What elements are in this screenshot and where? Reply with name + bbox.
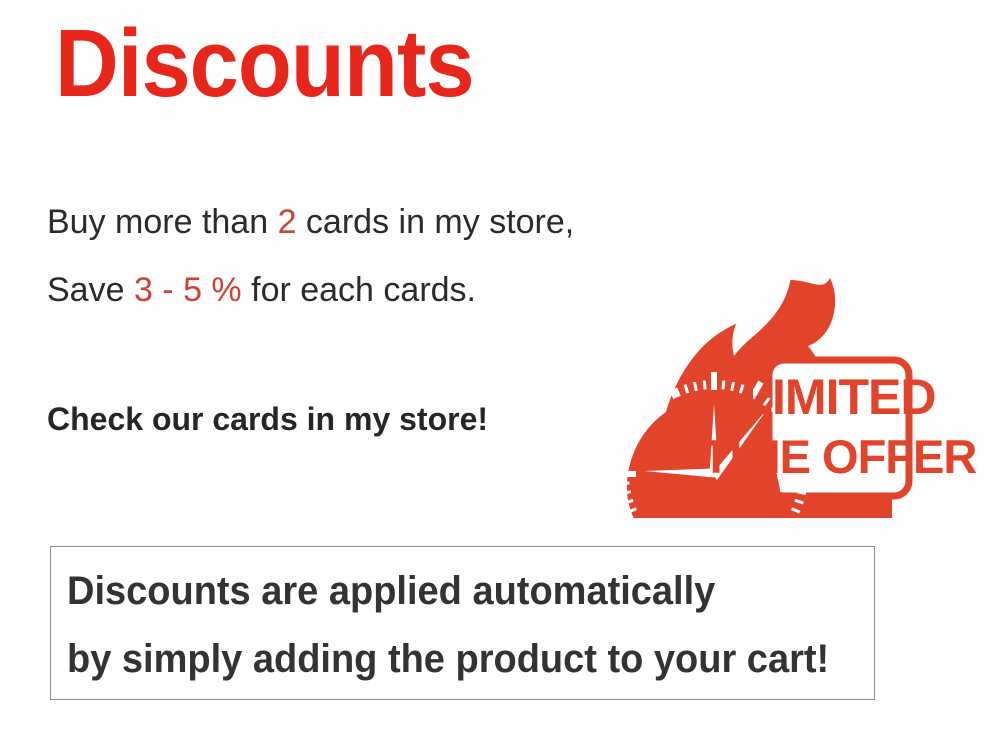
offer-line-1-prefix: Buy more than — [47, 203, 278, 241]
callout-line-2: by simply adding the product to your car… — [67, 637, 829, 681]
callout-box: Discounts are applied automatically by s… — [50, 546, 875, 700]
badge-line-2-text: TIME OFFER — [702, 430, 977, 483]
offer-line-1: Buy more than 2 cards in my store, — [47, 202, 574, 242]
offer-line-2-highlight: 3 - 5 % — [134, 271, 242, 309]
page-title: Discounts — [55, 16, 474, 112]
offer-line-1-suffix: cards in my store, — [296, 203, 574, 241]
limited-time-offer-badge-graphic: LIMITED TIME OFFER — [590, 268, 990, 518]
call-to-action-text: Check our cards in my store! — [47, 400, 488, 438]
promotional-banner: Discounts Buy more than 2 cards in my st… — [0, 0, 1000, 755]
offer-line-1-highlight: 2 — [278, 203, 297, 241]
offer-line-2: Save 3 - 5 % for each cards. — [47, 270, 476, 310]
offer-line-2-prefix: Save — [47, 271, 134, 309]
callout-line-1: Discounts are applied automatically — [67, 569, 715, 613]
offer-line-2-suffix: for each cards. — [242, 271, 476, 309]
badge-line-1-text: LIMITED — [743, 369, 936, 425]
